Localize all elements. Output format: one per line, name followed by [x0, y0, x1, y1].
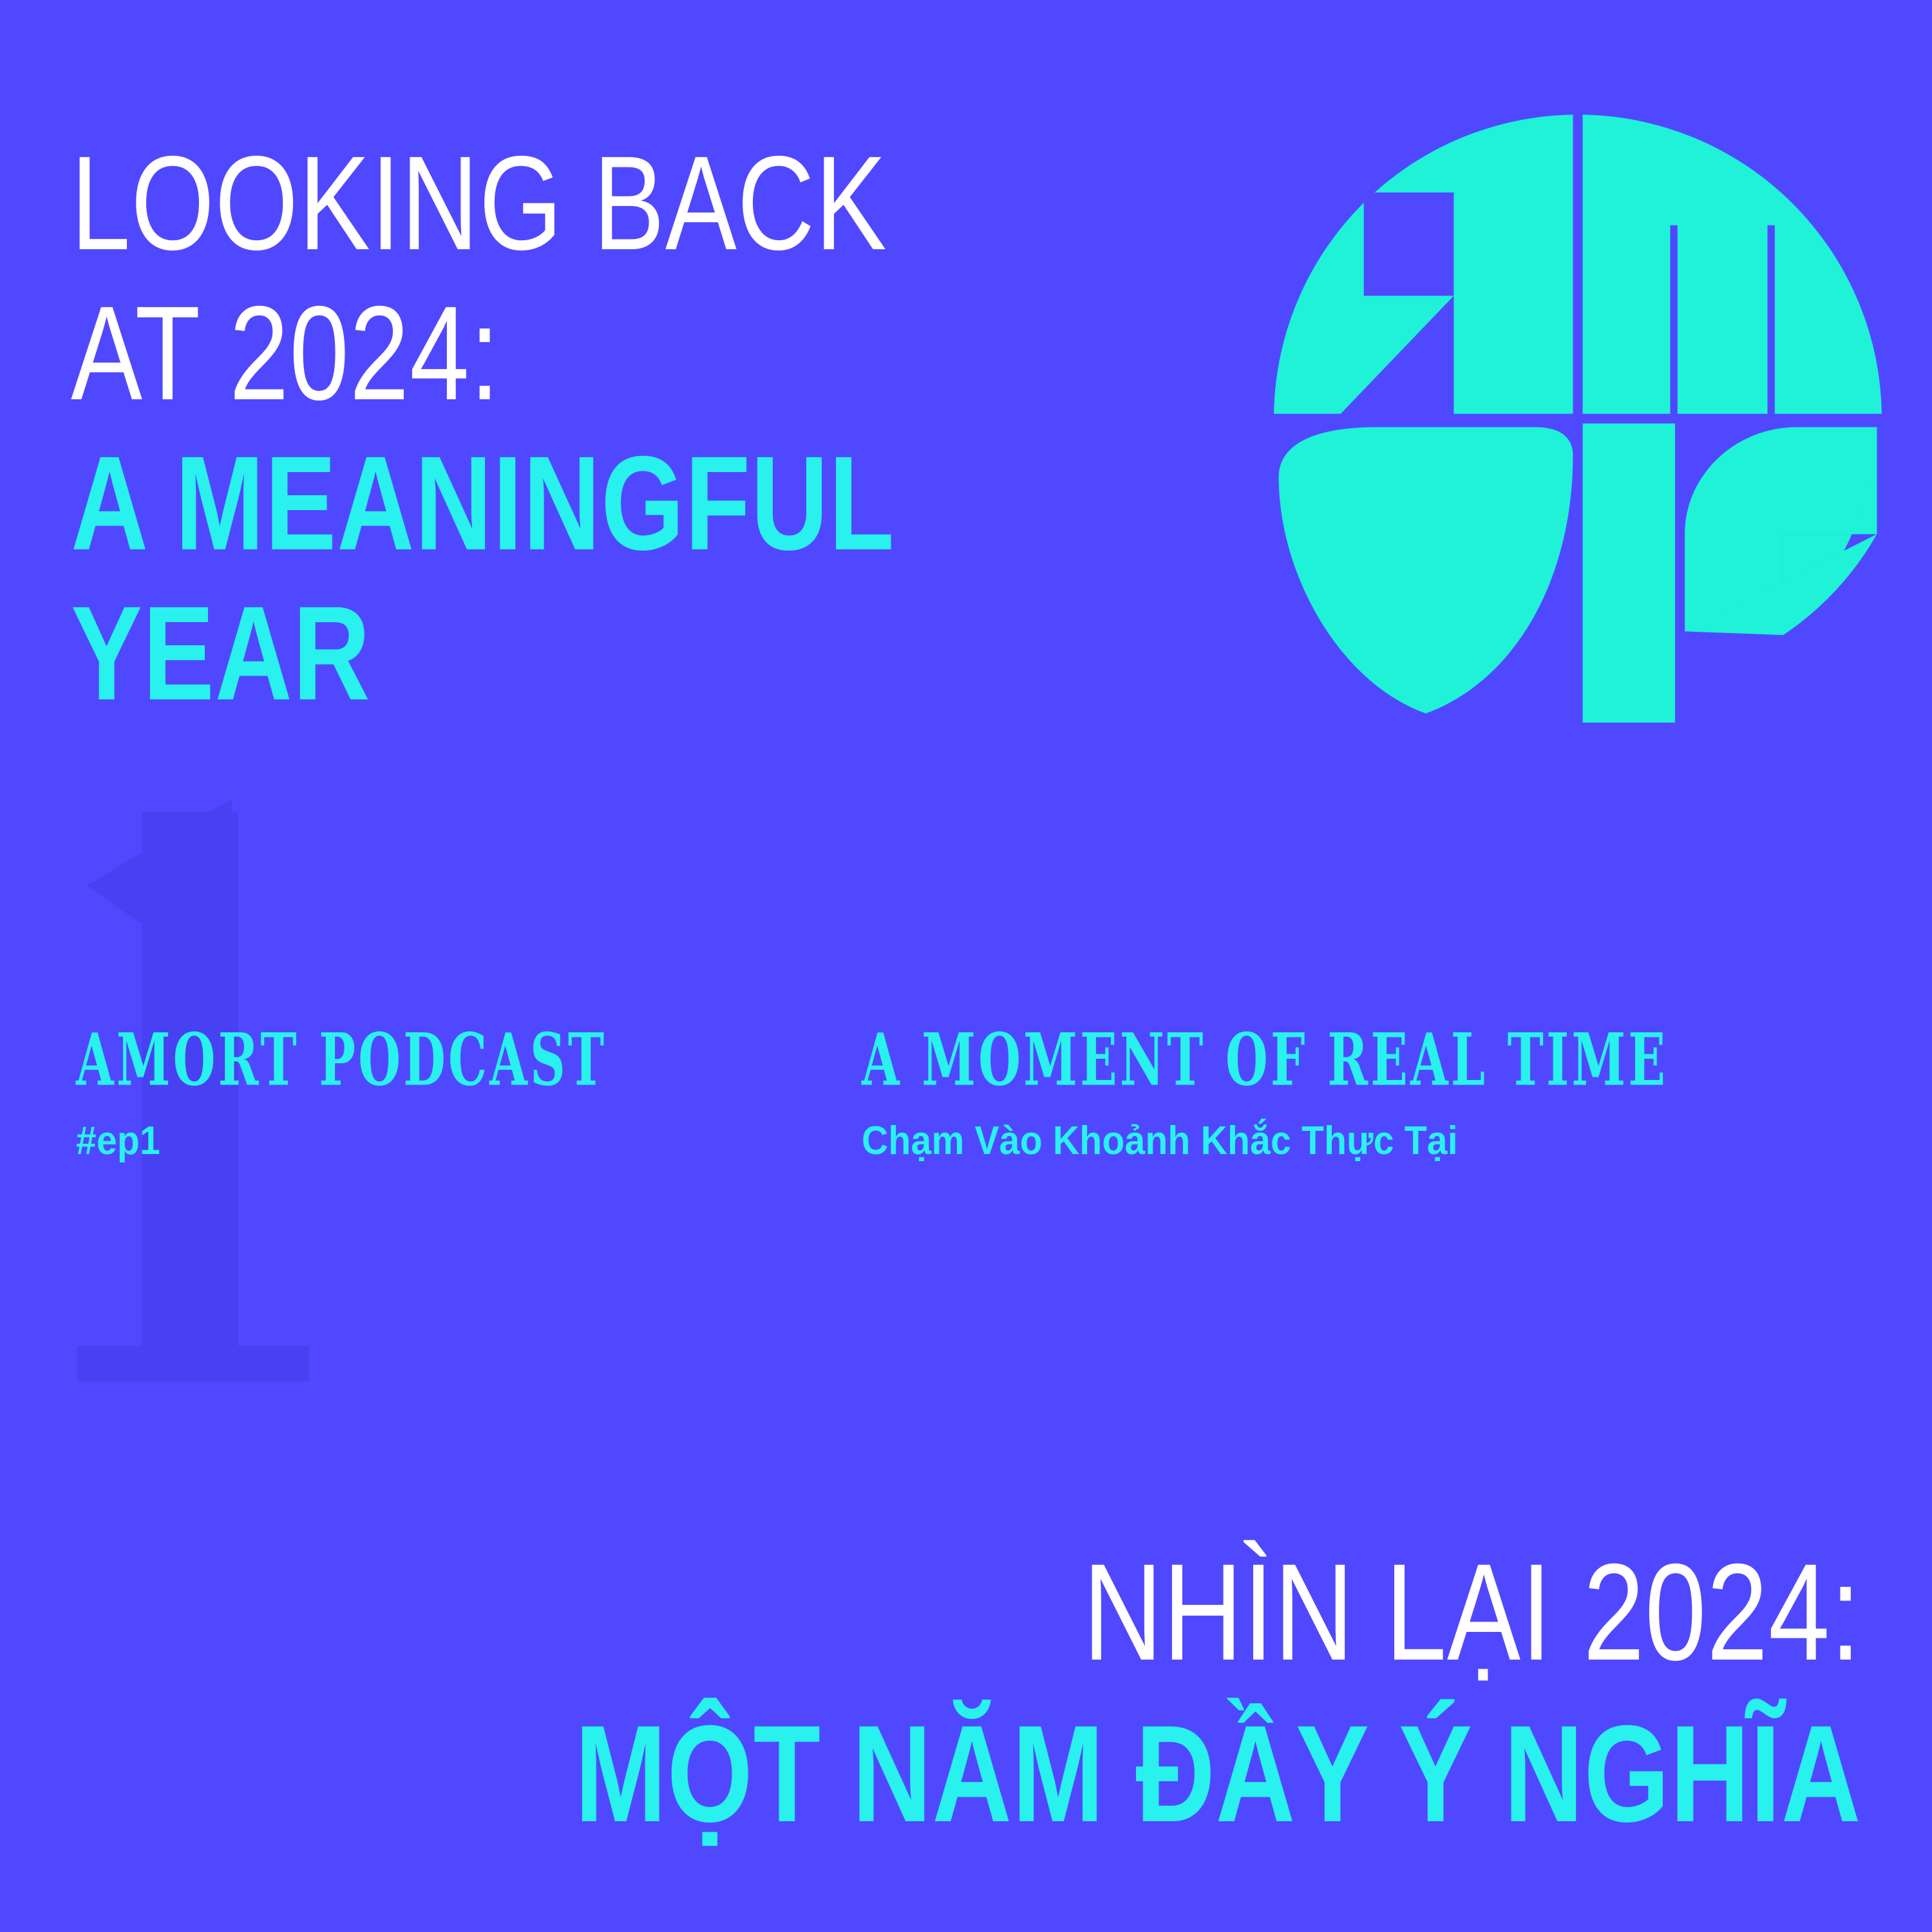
- headline-vi-line-1: NHÌN LẠI 2024:: [574, 1532, 1861, 1693]
- headline-en-line-2: AT 2024:: [71, 279, 998, 429]
- headline-vi-line-2: MỘT NĂM ĐẦY Ý NGHĨA: [574, 1694, 1861, 1855]
- logo-letter-m: [1578, 115, 1882, 419]
- logo-letter-r: [1583, 424, 1877, 723]
- show-name: AMORT PODCAST: [76, 1024, 632, 1095]
- episode-title-en: A MOMENT OF REAL TIME: [862, 1024, 1557, 1095]
- episode-title-vi: Chạm Vào Khoảnh Khắc Thực Tại: [862, 1121, 1750, 1161]
- headline-english: LOOKING BACK AT 2024: A MEANINGFUL YEAR: [71, 129, 1230, 729]
- headline-en-line-3: A MEANINGFUL: [71, 429, 998, 579]
- headline-en-line-1: LOOKING BACK: [71, 129, 998, 279]
- meta-column-show: AMORT PODCAST #ep1: [76, 1024, 849, 1161]
- podcast-episode-poster: LOOKING BACK AT 2024: A MEANINGFUL YEAR: [0, 0, 1932, 1932]
- meta-column-episode: A MOMENT OF REAL TIME Chạm Vào Khoảnh Kh…: [862, 1024, 1828, 1161]
- headline-en-line-4: YEAR: [71, 579, 998, 729]
- logo-letter-o: [1279, 427, 1573, 714]
- amort-logo-icon: [1274, 115, 1882, 723]
- headline-vietnamese: NHÌN LẠI 2024: MỘT NĂM ĐẦY Ý NGHĨA: [253, 1532, 1861, 1855]
- episode-tag: #ep1: [76, 1121, 787, 1161]
